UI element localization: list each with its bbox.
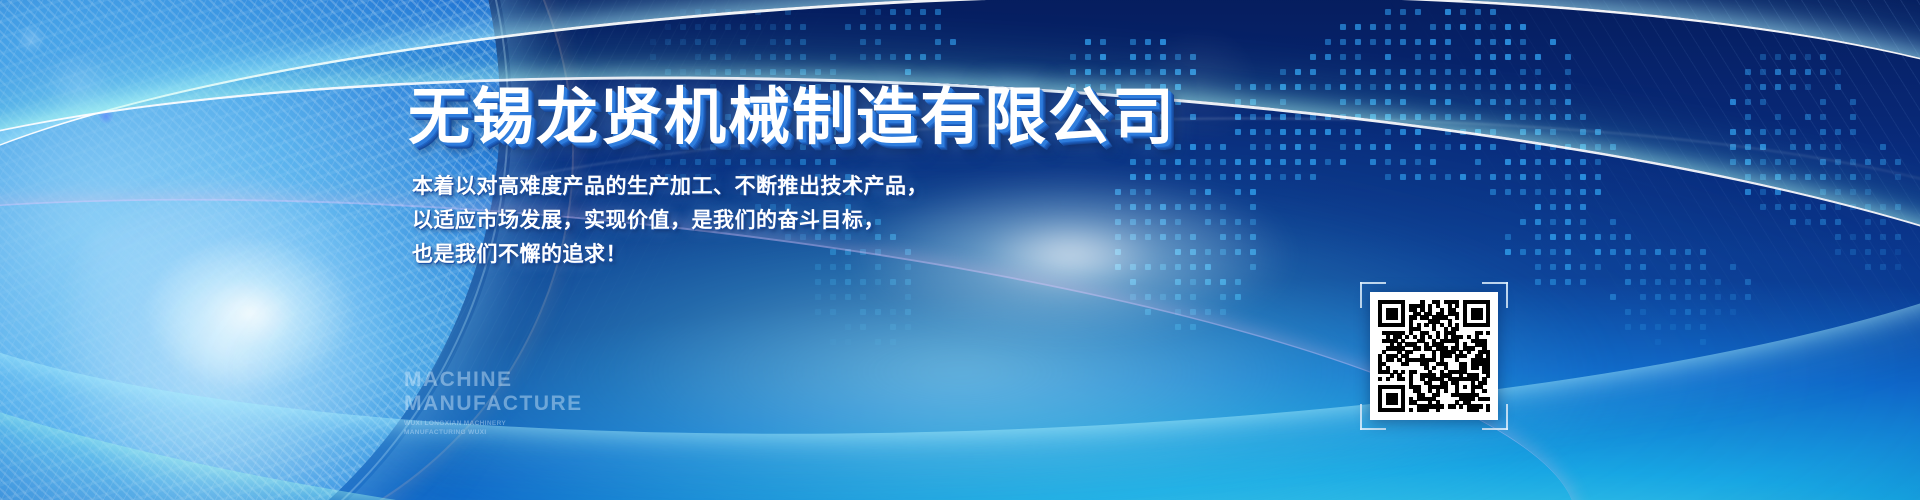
banner-text-block: 无锡龙贤机械制造有限公司 本着以对高难度产品的生产加工、不断推出技术产品， 以适… — [408, 84, 1168, 271]
slogan-line-2: 以适应市场发展，实现价值，是我们的奋斗目标， — [412, 203, 1168, 237]
page-title: 无锡龙贤机械制造有限公司 — [408, 84, 1168, 149]
slogan-line-1: 本着以对高难度产品的生产加工、不断推出技术产品， — [412, 169, 1168, 203]
qr-code-icon[interactable] — [1378, 300, 1490, 412]
slogan-line-3: 也是我们不懈的追求！ — [412, 237, 1168, 271]
company-banner: 无锡龙贤机械制造有限公司 本着以对高难度产品的生产加工、不断推出技术产品， 以适… — [0, 0, 1920, 500]
qr-code-area[interactable] — [1360, 282, 1508, 430]
slogan-block: 本着以对高难度产品的生产加工、不断推出技术产品， 以适应市场发展，实现价值，是我… — [412, 169, 1168, 271]
qr-code-card[interactable] — [1370, 292, 1498, 420]
